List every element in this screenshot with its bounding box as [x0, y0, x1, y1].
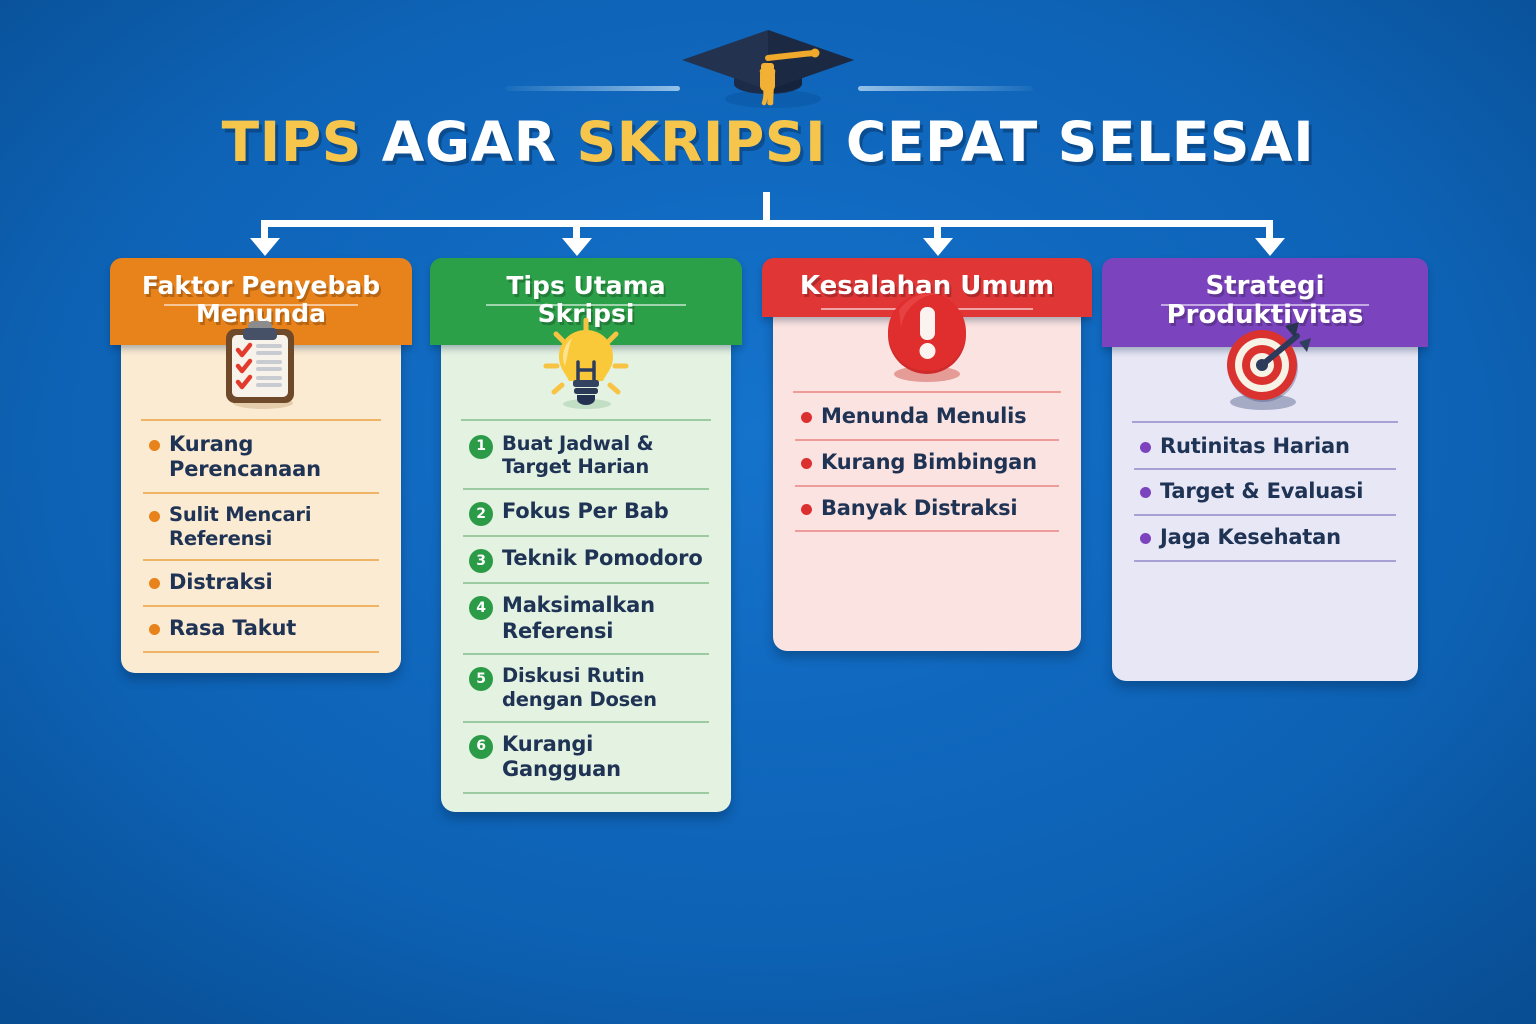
- list-item[interactable]: Menunda Menulis: [795, 395, 1059, 439]
- list-item[interactable]: 2Fokus Per Bab: [463, 490, 709, 535]
- list-separator: [1132, 421, 1398, 423]
- list-bullet-icon: [149, 440, 160, 451]
- list-item[interactable]: Rasa Takut: [143, 607, 379, 651]
- card-body-strategi-produktivitas: Rutinitas HarianTarget & EvaluasiJaga Ke…: [1112, 313, 1418, 681]
- card-body-faktor-penyebab-menunda: Kurang PerencanaanSulit Mencari Referens…: [121, 311, 401, 673]
- exclamation-circle-icon: [793, 283, 1061, 391]
- list-separator: [1134, 560, 1396, 562]
- list-bullet-icon: [149, 624, 160, 635]
- list-item[interactable]: 3Teknik Pomodoro: [463, 537, 709, 582]
- card-faktor-penyebab-menunda[interactable]: Faktor PenyebabMenunda Kurang Perencanaa…: [110, 258, 412, 673]
- list-number-badge: 3: [469, 549, 493, 573]
- card-strategi-produktivitas[interactable]: StrategiProduktivitas Rutinitas HarianTa…: [1102, 258, 1428, 681]
- card-list-faktor-penyebab-menunda: Kurang PerencanaanSulit Mencari Referens…: [141, 423, 381, 653]
- list-item-label: Diskusi Rutin dengan Dosen: [502, 664, 707, 712]
- list-bullet-icon: [149, 578, 160, 589]
- card-title-underline: [1161, 304, 1370, 306]
- card-list-tips-utama-skripsi: 1Buat Jadwal & Target Harian2Fokus Per B…: [461, 423, 711, 795]
- list-separator: [793, 391, 1061, 393]
- card-tips-utama-skripsi[interactable]: Tips UtamaSkripsi 1Buat Jadwal & Target …: [430, 258, 742, 812]
- graduation-cap-icon: [668, 16, 868, 116]
- list-item-label: Teknik Pomodoro: [502, 546, 707, 572]
- list-number-badge: 6: [469, 735, 493, 759]
- card-title-line: Faktor Penyebab: [122, 272, 400, 300]
- list-item[interactable]: Target & Evaluasi: [1134, 470, 1396, 514]
- card-title-line: Strategi: [1114, 272, 1416, 301]
- list-item[interactable]: Sulit Mencari Referensi: [143, 494, 379, 560]
- list-separator: [463, 792, 709, 794]
- card-title-underline: [486, 304, 686, 306]
- lightbulb-icon: [461, 311, 711, 419]
- list-item-label: Jaga Kesehatan: [1160, 525, 1394, 551]
- list-bullet-icon: [1140, 487, 1151, 498]
- list-bullet-icon: [149, 511, 160, 522]
- list-item[interactable]: Kurang Perencanaan: [143, 423, 379, 492]
- list-item[interactable]: 1Buat Jadwal & Target Harian: [463, 423, 709, 489]
- list-item[interactable]: 5Diskusi Rutin dengan Dosen: [463, 655, 709, 721]
- list-item[interactable]: Rutinitas Harian: [1134, 425, 1396, 469]
- list-item-label: Sulit Mencari Referensi: [169, 503, 377, 551]
- list-bullet-icon: [1140, 442, 1151, 453]
- list-number-badge: 1: [469, 435, 493, 459]
- list-item-label: Menunda Menulis: [821, 404, 1057, 430]
- card-body-kesalahan-umum: Menunda MenulisKurang BimbinganBanyak Di…: [773, 283, 1081, 651]
- list-item-label: Target & Evaluasi: [1160, 479, 1394, 505]
- infographic-canvas: TIPS AGAR SKRIPSI CEPAT SELESAI Faktor P…: [0, 0, 1536, 1024]
- list-item-label: Buat Jadwal & Target Harian: [502, 432, 707, 480]
- list-item[interactable]: 6Kurangi Gangguan: [463, 723, 709, 792]
- list-item-label: Banyak Distraksi: [821, 496, 1057, 522]
- card-kesalahan-umum[interactable]: Kesalahan Umum Menunda MenulisKurang Bim…: [762, 258, 1092, 651]
- list-item-label: Fokus Per Bab: [502, 499, 707, 525]
- list-item-label: Kurangi Gangguan: [502, 732, 707, 783]
- list-bullet-icon: [801, 504, 812, 515]
- list-number-badge: 4: [469, 596, 493, 620]
- list-number-badge: 5: [469, 667, 493, 691]
- list-item[interactable]: 4Maksimalkan Referensi: [463, 584, 709, 653]
- list-item[interactable]: Kurang Bimbingan: [795, 441, 1059, 485]
- card-list-strategi-produktivitas: Rutinitas HarianTarget & EvaluasiJaga Ke…: [1132, 425, 1398, 562]
- list-item-label: Rasa Takut: [169, 616, 377, 642]
- list-item-label: Maksimalkan Referensi: [502, 593, 707, 644]
- list-item-label: Rutinitas Harian: [1160, 434, 1394, 460]
- card-body-tips-utama-skripsi: 1Buat Jadwal & Target Harian2Fokus Per B…: [441, 311, 731, 813]
- list-item[interactable]: Distraksi: [143, 561, 379, 605]
- card-list-kesalahan-umum: Menunda MenulisKurang BimbinganBanyak Di…: [793, 395, 1061, 532]
- card-title-underline: [164, 304, 357, 306]
- list-bullet-icon: [801, 458, 812, 469]
- list-separator: [461, 419, 711, 421]
- target-dartboard-icon: [1132, 313, 1398, 421]
- clipboard-checklist-icon: [141, 311, 381, 419]
- card-title-line: Tips Utama: [442, 272, 730, 300]
- list-item-label: Kurang Bimbingan: [821, 450, 1057, 476]
- list-separator: [143, 651, 379, 653]
- cards-row: Faktor PenyebabMenunda Kurang Perencanaa…: [0, 258, 1536, 878]
- list-number-badge: 2: [469, 502, 493, 526]
- list-bullet-icon: [1140, 533, 1151, 544]
- list-separator: [795, 530, 1059, 532]
- list-item-label: Distraksi: [169, 570, 377, 596]
- list-item-label: Kurang Perencanaan: [169, 432, 377, 483]
- list-item[interactable]: Banyak Distraksi: [795, 487, 1059, 531]
- list-bullet-icon: [801, 412, 812, 423]
- list-item[interactable]: Jaga Kesehatan: [1134, 516, 1396, 560]
- list-separator: [141, 419, 381, 421]
